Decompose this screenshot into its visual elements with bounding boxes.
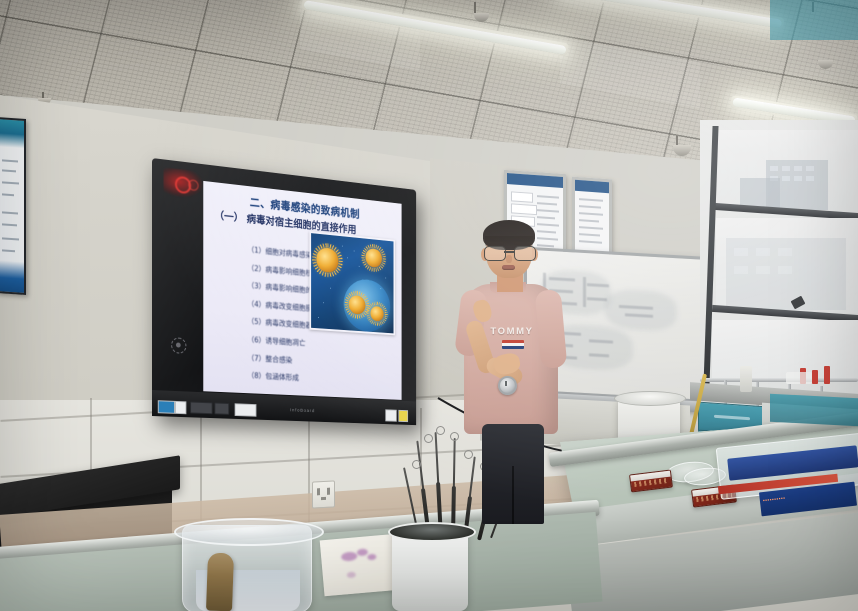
display-brand-label: InfoBoard — [290, 407, 315, 413]
right-arm — [535, 289, 568, 369]
mouth — [502, 265, 515, 270]
background-cabinet — [770, 0, 858, 40]
virus-micrograph-image — [309, 231, 395, 335]
stained-tissue-paper — [320, 534, 403, 597]
window-pane-upper — [718, 130, 858, 210]
display-sticker — [158, 400, 175, 414]
tray — [786, 372, 812, 384]
notice-board-right — [572, 177, 612, 260]
window-pane-lower — [712, 320, 858, 382]
container-rim — [174, 518, 324, 546]
building-silhouette — [726, 238, 846, 310]
display-port[interactable] — [214, 402, 229, 414]
no-smoking-sign-reflection — [164, 167, 204, 199]
notice-card — [511, 203, 537, 215]
list-item: （8）包涵体形成 — [247, 370, 342, 385]
notice-board-header — [575, 180, 609, 193]
wooden-pestle — [206, 553, 234, 611]
display-screen[interactable]: 二、病毒感染的致病机制 （一） 病毒对宿主细胞的直接作用 （1）细胞对病毒感染的… — [203, 181, 401, 400]
wristwatch — [498, 376, 517, 395]
reagent-bottle — [740, 366, 752, 392]
notice-board-header — [507, 173, 563, 188]
background-cabinet — [770, 394, 858, 427]
display-sticker — [398, 410, 408, 422]
list-item: （6）诱导细胞凋亡 — [247, 334, 342, 350]
window-pane-middle — [716, 218, 858, 313]
display-sticker — [385, 409, 396, 421]
trash-bin-rim — [614, 391, 686, 406]
reagent-bottle-cap — [812, 370, 818, 384]
classroom-photo: 二、病毒感染的致病机制 （一） 病毒对宿主细胞的直接作用 （1）细胞对病毒感染的… — [0, 0, 858, 611]
wall-outlet[interactable] — [312, 480, 335, 508]
reagent-bottle-cap — [824, 366, 830, 384]
wall-poster — [0, 117, 26, 295]
display-label-sticker — [235, 403, 257, 416]
pants — [482, 424, 544, 524]
instructor: TOMMY — [456, 224, 566, 514]
nose — [506, 255, 512, 263]
loop-jar-rim — [388, 522, 476, 542]
power-eye-icon[interactable] — [171, 337, 186, 354]
eyebrows — [487, 242, 531, 245]
brand-flag-logo — [502, 340, 524, 349]
display-sticker — [175, 401, 186, 414]
list-item: （7）整合感染 — [247, 352, 342, 368]
interactive-display[interactable]: 二、病毒感染的致病机制 （一） 病毒对宿主细胞的直接作用 （1）细胞对病毒感染的… — [152, 158, 416, 425]
notice-card — [511, 191, 533, 203]
display-port[interactable] — [190, 402, 212, 415]
